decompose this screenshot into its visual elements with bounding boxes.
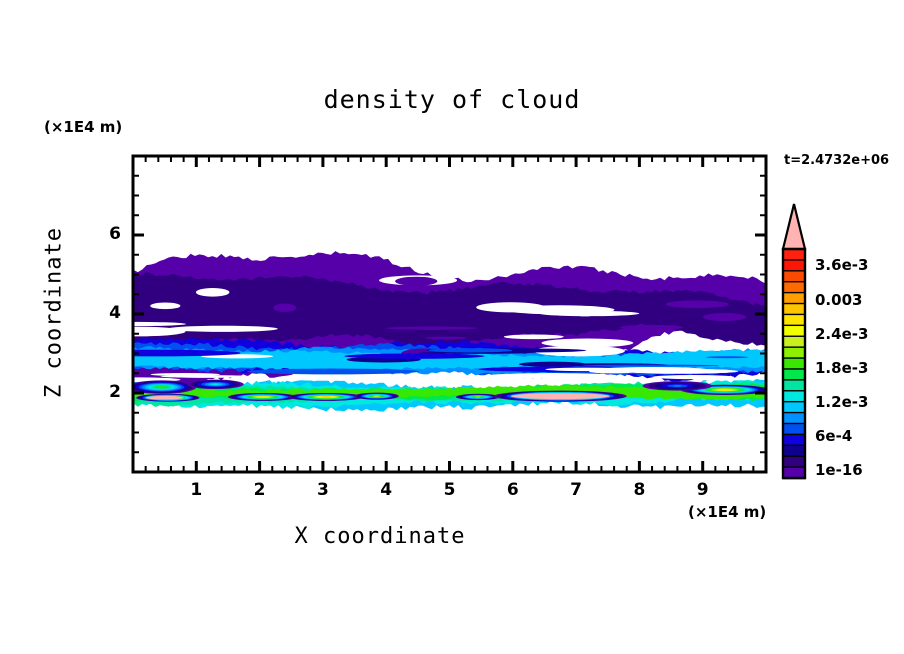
contour-field <box>74 251 778 412</box>
x-tick-label: 9 <box>683 480 723 500</box>
colorbar-band <box>783 325 805 337</box>
contour-hotspot <box>673 385 681 386</box>
contour-patch <box>150 303 180 310</box>
colorbar-tick-label: 2.4e-3 <box>815 325 868 343</box>
contour-patch <box>582 365 720 367</box>
colorbar-tick-label: 6e-4 <box>815 427 852 445</box>
contour-patch <box>151 373 220 376</box>
contour-patch <box>647 281 718 287</box>
colorbar-band <box>783 304 805 316</box>
x-tick-label: 5 <box>430 480 470 500</box>
colorbar-band <box>783 369 805 381</box>
contour-patch <box>385 327 478 330</box>
x-tick-label: 6 <box>493 480 533 500</box>
colorbar-top-arrow <box>783 204 805 249</box>
contour-hotspot <box>475 396 480 397</box>
contour-patch <box>330 276 377 281</box>
colorbar-tick-label: 3.6e-3 <box>815 256 868 274</box>
y-tick-label: 6 <box>87 224 121 244</box>
colorbar-band <box>783 260 805 272</box>
contour-patch <box>692 378 751 380</box>
contour-patch <box>273 303 296 311</box>
contour-patch <box>395 277 437 286</box>
contour-hotspot <box>374 395 379 396</box>
figure-canvas: density of cloud (×1E4 m) (×1E4 m) t=2.4… <box>0 0 904 654</box>
contour-patch <box>665 300 728 308</box>
y-tick-label: 2 <box>87 382 121 402</box>
contour-hotspot <box>720 389 731 390</box>
contour-patch <box>576 314 593 317</box>
contour-patch <box>196 288 229 297</box>
contour-patch <box>620 325 683 330</box>
x-tick-label: 3 <box>303 480 343 500</box>
contour-patch <box>703 313 746 321</box>
colorbar-tick-label: 1.2e-3 <box>815 393 868 411</box>
contour-patch <box>488 373 615 378</box>
contour-patch <box>168 326 278 332</box>
colorbar-band <box>783 336 805 348</box>
contour-patch <box>425 373 454 378</box>
x-tick-label: 8 <box>619 480 659 500</box>
contour-peak-core <box>511 393 610 399</box>
contour-patch <box>289 377 374 380</box>
colorbar-band <box>783 249 805 261</box>
colorbar-band <box>783 391 805 403</box>
colorbar-band <box>783 282 805 294</box>
contour-patch <box>476 302 545 312</box>
colorbar-band <box>783 434 805 446</box>
colorbar-tick-label: 1.8e-3 <box>815 359 868 377</box>
colorbar-band <box>783 347 805 359</box>
colorbar-tick-label: 1e-16 <box>815 461 863 479</box>
colorbar-band <box>783 423 805 435</box>
x-tick-label: 1 <box>176 480 216 500</box>
colorbar-band <box>783 314 805 326</box>
contour-patch <box>344 353 484 358</box>
colorbar-band <box>783 445 805 457</box>
contour-hotspot <box>259 396 267 397</box>
colorbar-band <box>783 293 805 305</box>
contour-patch <box>589 370 637 374</box>
colorbar-band <box>783 380 805 392</box>
contour-patch <box>425 337 468 340</box>
contour-peak-core <box>146 396 184 400</box>
colorbar-tick-label: 0.003 <box>815 291 862 309</box>
contour-patch <box>706 356 749 358</box>
colorbar-band <box>783 358 805 370</box>
contour-plot <box>0 0 904 654</box>
contour-patch <box>429 348 513 352</box>
colorbar-band <box>783 456 805 468</box>
contour-hotspot <box>157 386 165 388</box>
x-tick-label: 4 <box>366 480 406 500</box>
x-tick-label: 7 <box>556 480 596 500</box>
contour-hotspot <box>212 384 219 385</box>
colorbar-band <box>783 271 805 283</box>
contour-patch <box>74 350 240 357</box>
contour-hotspot <box>322 396 331 397</box>
colorbar-band <box>783 402 805 414</box>
colorbar <box>783 204 805 479</box>
x-tick-label: 2 <box>240 480 280 500</box>
colorbar-band <box>783 413 805 425</box>
contour-patch <box>247 369 419 375</box>
contour-patch <box>642 270 678 273</box>
y-tick-label: 4 <box>87 303 121 323</box>
contour-patch <box>504 334 564 339</box>
